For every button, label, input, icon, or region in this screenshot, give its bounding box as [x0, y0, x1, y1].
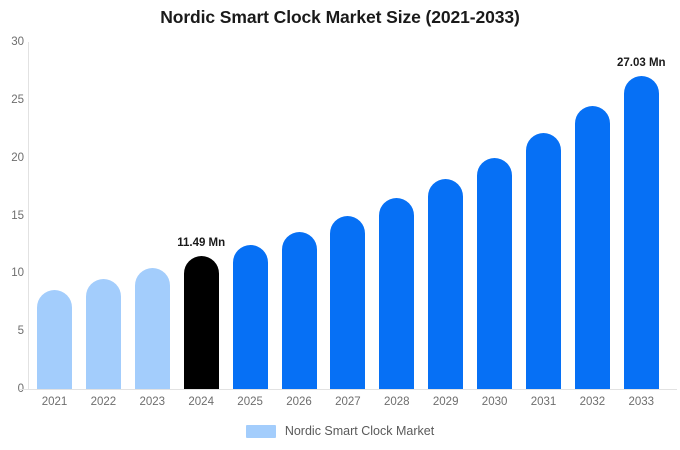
legend-label-nordic-smart-clock-market: Nordic Smart Clock Market [285, 424, 434, 438]
x-axis-tick-2032: 2032 [567, 396, 617, 408]
x-axis-tick-2029: 2029 [421, 396, 471, 408]
x-axis-tick-2033: 2033 [616, 396, 666, 408]
x-axis-tick-2023: 2023 [127, 396, 177, 408]
x-axis-tick-2028: 2028 [372, 396, 422, 408]
x-axis-tick-2026: 2026 [274, 396, 324, 408]
x-axis-tick-2031: 2031 [519, 396, 569, 408]
chart-legend: Nordic Smart Clock Market [0, 424, 680, 438]
x-axis-tick-2024: 2024 [176, 396, 226, 408]
x-axis-tick-2025: 2025 [225, 396, 275, 408]
x-axis-tick-labels: 2021202220232024202520262027202820292030… [0, 0, 680, 450]
x-axis-tick-2027: 2027 [323, 396, 373, 408]
x-axis-tick-2030: 2030 [470, 396, 520, 408]
bar-chart: Nordic Smart Clock Market Size (2021-203… [0, 0, 680, 450]
x-axis-tick-2021: 2021 [30, 396, 80, 408]
x-axis-tick-2022: 2022 [78, 396, 128, 408]
legend-swatch-nordic-smart-clock-market [246, 425, 276, 438]
